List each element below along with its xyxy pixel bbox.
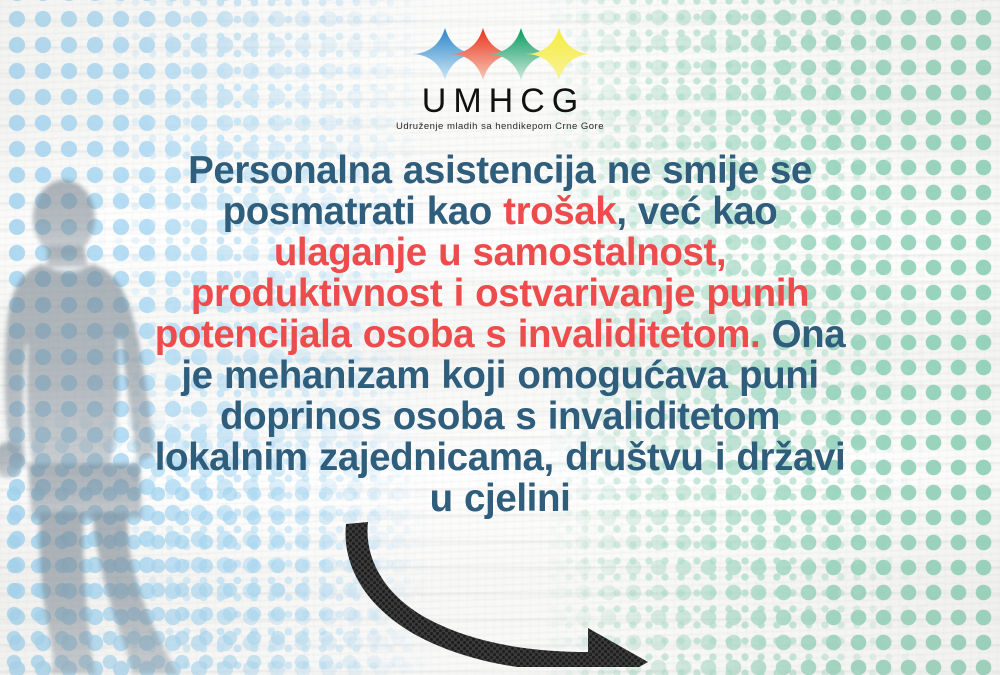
headline-run: u cjelini: [430, 477, 571, 520]
headline-line: u cjelini: [50, 478, 950, 519]
headline-run: produktivnost i ostvarivanje punih: [191, 272, 809, 315]
logo-tagline: Udruženje mladih sa hendikepom Crne Gore: [396, 121, 604, 132]
headline-line: produktivnost i ostvarivanje punih: [50, 273, 950, 314]
headline-run: doprinos osoba s invaliditetom: [220, 395, 780, 438]
headline-line: je mehanizam koji omogućava puni: [50, 355, 950, 396]
headline-run: Ona: [760, 313, 845, 356]
headline-line: doprinos osoba s invaliditetom: [50, 396, 950, 437]
headline-line: lokalnim zajednicama, društvu i državi: [50, 437, 950, 478]
headline-run: potencijala osoba s invaliditetom.: [155, 313, 761, 356]
headline-run: ulaganje u samostalnost,: [274, 231, 726, 274]
headline-run: , već kao: [616, 190, 777, 233]
headline-line: Personalna asistencija ne smije se: [50, 150, 950, 191]
logo-wordmark: UMHCG: [415, 84, 585, 118]
headline-run: je mehanizam koji omogućava puni: [181, 354, 818, 397]
headline-line: potencijala osoba s invaliditetom. Ona: [50, 314, 950, 355]
umhcg-logo: UMHCG Udruženje mladih sa hendikepom Crn…: [0, 24, 1000, 132]
poster-canvas: UMHCG Udruženje mladih sa hendikepom Crn…: [0, 0, 1000, 675]
headline-line: ulaganje u samostalnost,: [50, 232, 950, 273]
headline-text: Personalna asistencija ne smije seposmat…: [50, 150, 950, 519]
headline-run: posmatrati kao: [223, 190, 504, 233]
headline-line: posmatrati kao trošak, već kao: [50, 191, 950, 232]
headline-run: trošak: [503, 190, 616, 233]
headline-run: lokalnim zajednicama, društvu i državi: [155, 436, 846, 479]
logo-diamond-marks-icon: [407, 24, 593, 82]
headline-run: Personalna asistencija ne smije se: [188, 149, 812, 192]
